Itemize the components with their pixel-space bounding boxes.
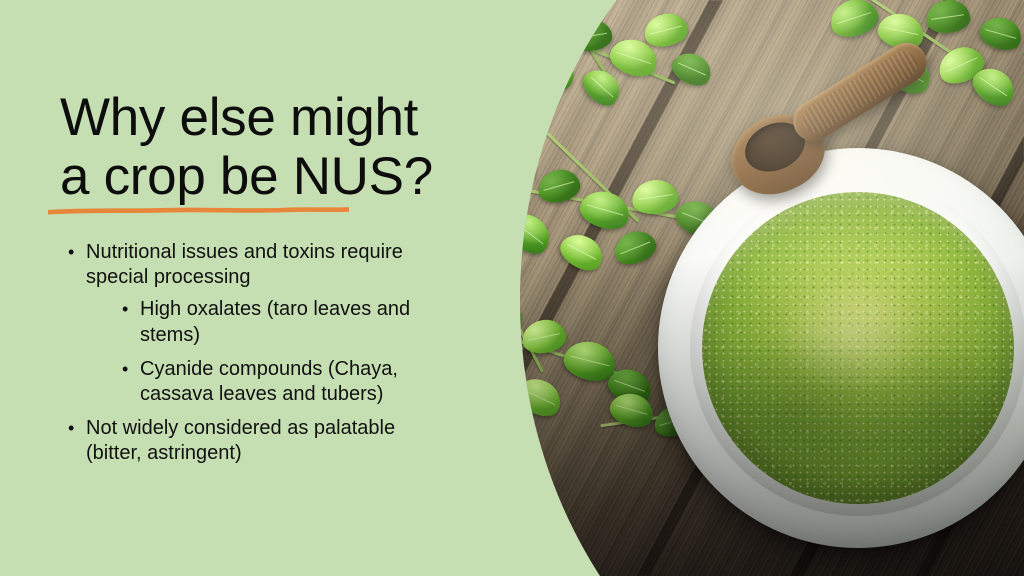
moringa-leaf [445,158,499,206]
moringa-leaf [462,345,521,403]
moringa-leaf [488,150,537,189]
bullet-text: High oxalates (taro leaves and stems) [140,297,424,347]
bullet-level-2-list: High oxalates (taro leaves and stems) Cy… [86,297,424,407]
moringa-leaf [482,9,529,50]
page-title: Why else might a crop be NUS? [60,88,440,207]
list-item: Not widely considered as palatable (bitt… [64,416,424,466]
photo-vignette [430,0,1024,576]
list-item: Cyanide compounds (Chaya, cassava leaves… [120,357,424,407]
moringa-leaf [474,295,524,335]
slide-photo [430,0,1024,576]
bullet-text: Not widely considered as palatable (bitt… [86,416,424,466]
bullet-level-1-list: Nutritional issues and toxins require sp… [64,240,424,467]
moringa-leaf [433,298,484,344]
list-item: High oxalates (taro leaves and stems) [120,297,424,347]
moringa-leaf [433,379,485,428]
bullet-list: Nutritional issues and toxins require sp… [64,240,424,469]
list-item: Nutritional issues and toxins require sp… [64,240,424,407]
accent-underline [48,206,349,215]
slide: Why else might a crop be NUS? Nutritiona… [0,0,1024,576]
bullet-text: Cyanide compounds (Chaya, cassava leaves… [140,357,424,407]
moringa-leaf [519,2,571,45]
bullet-text: Nutritional issues and toxins require sp… [86,240,424,290]
moringa-leaf [485,54,532,98]
